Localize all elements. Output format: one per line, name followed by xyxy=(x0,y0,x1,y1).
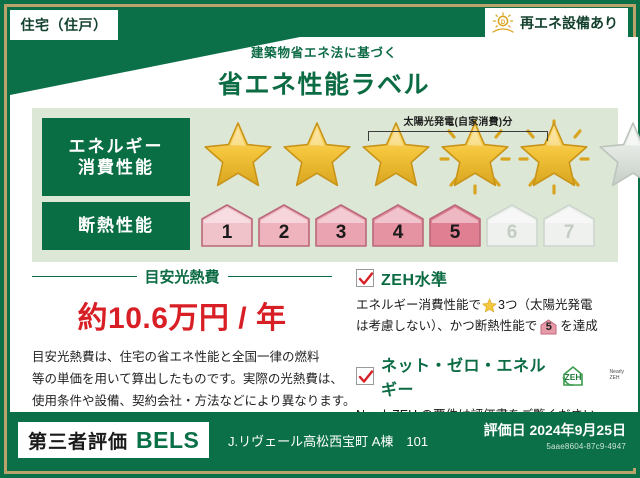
bels-en-label: BELS xyxy=(136,427,199,454)
zeh-logo-caption-2: ZEH xyxy=(610,375,620,381)
inline-insulation-chip: 5 xyxy=(540,319,557,335)
utility-cost-section: 目安光熱費 約10.6万円 / 年 目安光熱費は、住宅の省エネ性能と全国一律の燃… xyxy=(32,266,332,413)
star-empty xyxy=(595,119,640,195)
zeh-standard-checkbox xyxy=(356,269,374,287)
insulation-performance-tag: 断熱性能 xyxy=(42,202,190,250)
insulation-chip-value: 7 xyxy=(564,222,575,244)
zeh-desc-text-a: エネルギー消費性能で xyxy=(356,295,481,316)
evaluation-info: 評価日 2024年9月25日 5aae8604-87c9-4947 xyxy=(484,420,626,451)
bels-certification-chip: 第三者評価 BELS xyxy=(18,422,209,458)
building-type-tab: 住宅（住戸） xyxy=(10,10,118,40)
star-filled xyxy=(279,119,355,195)
star-filled xyxy=(200,119,276,195)
insulation-chip-inactive: 6 xyxy=(485,203,539,249)
zeh-standard-title: ZEH水準 xyxy=(381,266,448,290)
net-zero-checkbox xyxy=(356,367,374,385)
energy-performance-tag: エネルギー 消費性能 xyxy=(42,118,190,196)
renewable-equipment-badge: D 再エネ設備あり xyxy=(485,8,628,38)
insulation-level-chips: 1 2 3 4 5 6 7 xyxy=(200,200,596,252)
cost-rule-right xyxy=(228,276,333,277)
zeh-standard-heading: ZEH水準 xyxy=(356,266,624,290)
star-icon xyxy=(279,119,355,195)
insulation-chip-active: 1 xyxy=(200,203,254,249)
cost-note-line-2: 等の単価を用いて算出したものです。実際の光熱費は、 xyxy=(32,369,332,391)
insulation-performance-row: 断熱性能 1 2 3 4 5 6 xyxy=(32,200,618,254)
insulation-tag-label: 断熱性能 xyxy=(78,215,154,236)
energy-performance-label: 住宅（住戸） D 再エネ設備あり 建築物省エネ法に基づく 省エネ性能ラベル xyxy=(0,0,640,478)
performance-panel: エネルギー 消費性能 太陽光発電(自家消費)分 xyxy=(32,108,618,262)
insulation-chip-active: 2 xyxy=(257,203,311,249)
energy-performance-row: エネルギー 消費性能 太陽光発電(自家消費)分 xyxy=(32,116,618,198)
label-header: 建築物省エネ法に基づく 省エネ性能ラベル xyxy=(4,42,640,101)
cost-rule-left xyxy=(32,276,137,277)
solar-bracket-line xyxy=(368,131,548,141)
cost-note-line-3: 使用条件や設備、契約会社・方法などにより異なります。 xyxy=(32,391,332,413)
zeh-desc-text-d: を達成 xyxy=(560,316,598,337)
renewable-badge-label: 再エネ設備あり xyxy=(520,13,618,33)
zeh-desc-text-b: 3つ（太陽光発電 xyxy=(498,295,592,316)
star-icon xyxy=(595,119,640,195)
insulation-chip-value: 3 xyxy=(336,222,347,244)
insulation-chip-active: 3 xyxy=(314,203,368,249)
utility-cost-note: 目安光熱費は、住宅の省エネ性能と全国一律の燃料 等の単価を用いて算出したものです… xyxy=(32,347,332,413)
star-icon xyxy=(482,298,497,313)
inline-chip-value: 5 xyxy=(546,318,552,337)
insulation-chip-value: 6 xyxy=(507,222,518,244)
zeh-desc-text-c: は考慮しない）、かつ断熱性能で xyxy=(356,316,537,337)
evaluation-date: 評価日 2024年9月25日 xyxy=(484,420,626,440)
label-subtitle: 建築物省エネ法に基づく xyxy=(4,42,640,61)
check-icon xyxy=(358,369,374,385)
energy-tag-line2: 消費性能 xyxy=(78,157,154,178)
insulation-chip-value: 4 xyxy=(393,222,404,244)
net-zero-title: ネット・ゼロ・エネルギー xyxy=(381,352,549,400)
zeh-logo-caption: Nearly ZEH xyxy=(610,370,624,381)
zeh-standard-block: ZEH水準 エネルギー消費性能で 3つ（太陽光発電 は考慮しない）、かつ断熱性能… xyxy=(356,266,624,338)
energy-tag-line1: エネルギー xyxy=(69,136,164,157)
cost-heading-label: 目安光熱費 xyxy=(145,266,220,287)
insulation-chip-active: 4 xyxy=(371,203,425,249)
bels-jp-label: 第三者評価 xyxy=(28,427,128,454)
insulation-chip-active: 5 xyxy=(428,203,482,249)
insulation-chip-value: 2 xyxy=(279,222,290,244)
net-zero-energy-heading: ネット・ゼロ・エネルギー ZEH Nearly ZEH xyxy=(356,352,624,400)
utility-cost-value: 約10.6万円 / 年 xyxy=(32,293,332,337)
zeh-standard-desc-line-2: は考慮しない）、かつ断熱性能で 5 を達成 xyxy=(356,316,624,337)
zeh-standard-desc-line-1: エネルギー消費性能で 3つ（太陽光発電 xyxy=(356,295,624,316)
footer-bar: 第三者評価 BELS J.リヴェール高松西宝町 A棟 101 評価日 2024年… xyxy=(10,412,638,468)
insulation-chip-inactive: 7 xyxy=(542,203,596,249)
zeh-house-logo: ZEH xyxy=(560,364,602,388)
lower-content: 目安光熱費 約10.6万円 / 年 目安光熱費は、住宅の省エネ性能と全国一律の燃… xyxy=(4,266,640,416)
solar-generation-bracket: 太陽光発電(自家消費)分 xyxy=(360,115,556,145)
check-icon xyxy=(358,271,374,287)
star-icon xyxy=(200,119,276,195)
cost-note-line-1: 目安光熱費は、住宅の省エネ性能と全国一律の燃料 xyxy=(32,347,332,369)
insulation-chip-value: 5 xyxy=(450,222,461,244)
svg-text:ZEH: ZEH xyxy=(564,372,581,382)
utility-cost-heading: 目安光熱費 xyxy=(32,266,332,287)
sun-solar-icon: D xyxy=(491,12,515,34)
label-title: 省エネ性能ラベル xyxy=(4,65,640,101)
svg-text:D: D xyxy=(501,20,506,26)
zeh-section: ZEH水準 エネルギー消費性能で 3つ（太陽光発電 は考慮しない）、かつ断熱性能… xyxy=(356,266,624,426)
insulation-chip-value: 1 xyxy=(222,222,233,244)
property-name: J.リヴェール高松西宝町 A棟 101 xyxy=(228,431,428,450)
evaluation-id: 5aae8604-87c9-4947 xyxy=(484,442,626,451)
solar-bracket-label: 太陽光発電(自家消費)分 xyxy=(360,113,556,128)
zeh-standard-desc: エネルギー消費性能で 3つ（太陽光発電 は考慮しない）、かつ断熱性能で 5 xyxy=(356,295,624,338)
